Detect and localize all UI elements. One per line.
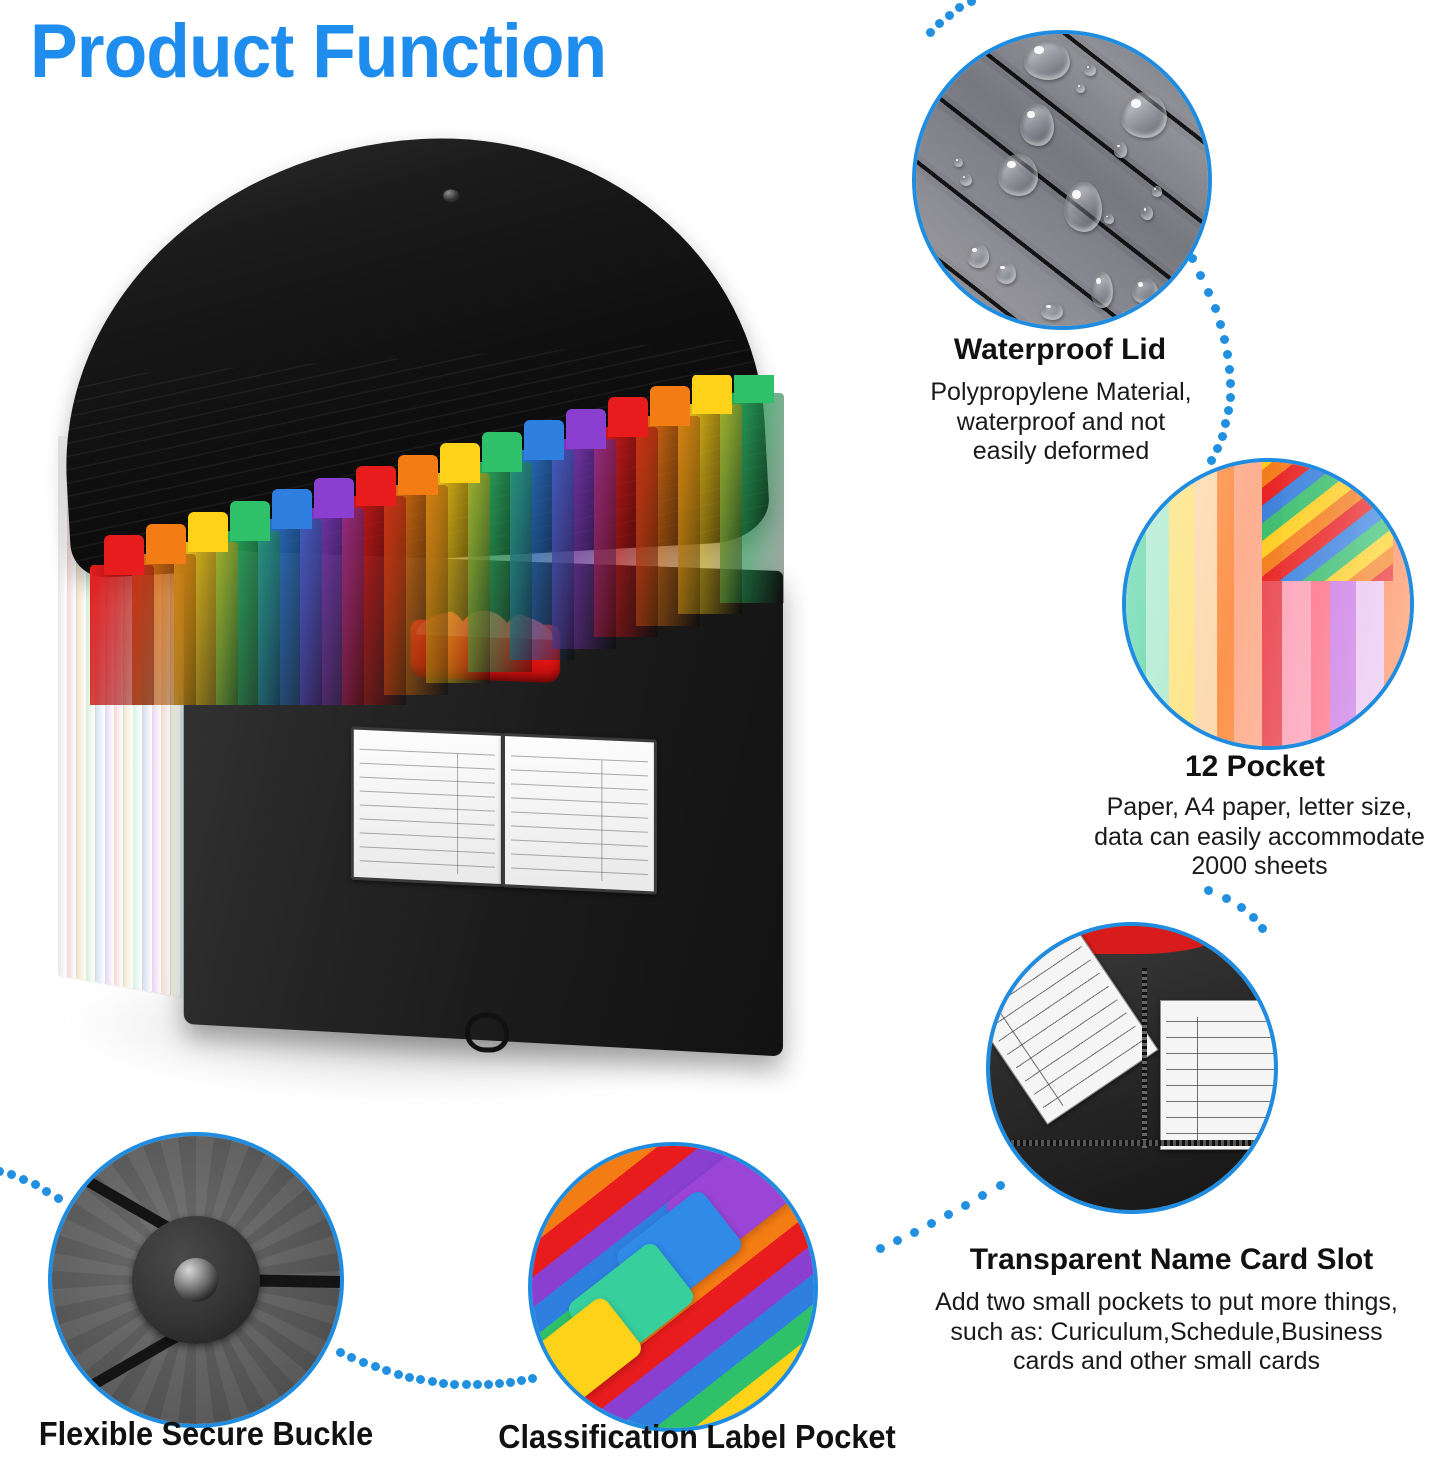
water-droplet <box>1132 278 1158 304</box>
connector-dot <box>927 1219 936 1228</box>
callout-body-line: 2000 sheets <box>1076 852 1443 882</box>
connector-dot <box>495 1379 504 1388</box>
connector-dot <box>1211 304 1220 313</box>
rainbow-tab-notch <box>734 375 774 403</box>
connector-dot <box>1207 456 1216 465</box>
connector-dot <box>1196 271 1205 280</box>
callout-image-flexible-secure-buckle <box>48 1132 344 1428</box>
callout-heading-flexible-secure-buckle: Flexible Secure Buckle <box>14 1415 397 1453</box>
water-droplet <box>1020 104 1054 146</box>
connector-dot <box>910 1228 919 1237</box>
water-droplet <box>954 158 963 167</box>
callout-body-line: Polypropylene Material, <box>893 378 1229 408</box>
connector-dot <box>1216 320 1225 329</box>
connector-dot <box>517 1376 526 1385</box>
connector-dot <box>394 1370 403 1379</box>
connector-dot <box>428 1377 437 1386</box>
rainbow-tab-notch <box>440 443 480 483</box>
connector-dot <box>1222 894 1231 903</box>
lid-rivet <box>443 189 459 201</box>
rainbow-tab-notch <box>314 478 354 518</box>
connector-dot <box>359 1358 368 1367</box>
callout-image-12-pocket <box>1122 458 1414 750</box>
connector-dot <box>1237 903 1246 912</box>
water-droplet <box>1084 64 1096 76</box>
connector-dot <box>967 0 976 6</box>
connector-dot <box>416 1375 425 1384</box>
elastic-buckle-loop <box>464 1012 510 1052</box>
connector-dot <box>1218 432 1227 441</box>
connector-dot <box>1223 350 1232 359</box>
water-droplet <box>1076 84 1085 93</box>
connector-dot <box>1204 886 1213 895</box>
connector-dot <box>439 1379 448 1388</box>
connector-dot <box>1204 288 1213 297</box>
rainbow-tab-notch <box>566 409 606 449</box>
card-ruled-lines <box>1166 1006 1278 1144</box>
callout-body-line: Add two small pockets to put more things… <box>890 1288 1443 1318</box>
connector-dot <box>978 1191 987 1200</box>
water-droplet <box>1152 186 1162 197</box>
water-droplet <box>1104 214 1114 224</box>
connector-dot <box>1225 365 1234 374</box>
callout-image-name-card-slot <box>986 922 1278 1214</box>
card-column-rule <box>1197 1017 1198 1143</box>
connector-dot <box>1226 393 1235 402</box>
callout-body-12-pocket: Paper, A4 paper, letter size, data can e… <box>1076 793 1443 882</box>
connector-dot <box>336 1348 345 1357</box>
buckle-button <box>132 1216 260 1344</box>
callout-body-line: such as: Curiculum,Schedule,Business <box>890 1318 1443 1348</box>
rainbow-tab-notch <box>104 535 144 575</box>
water-droplet <box>1141 206 1153 220</box>
callout-heading-12-pocket: 12 Pocket <box>1090 750 1420 784</box>
rainbow-tab-notch <box>692 375 732 414</box>
water-droplet <box>1041 302 1063 320</box>
connector-dot <box>1221 419 1230 428</box>
callout-heading-waterproof-lid: Waterproof Lid <box>900 333 1220 367</box>
name-card-tilted <box>986 925 1158 1124</box>
connector-dot <box>1226 379 1235 388</box>
connector-dot <box>31 1180 40 1189</box>
connector-dot <box>1213 444 1222 453</box>
pocket-seam-vertical <box>1142 968 1147 1148</box>
connector-dot <box>371 1362 380 1371</box>
connector-dot <box>1258 924 1267 933</box>
connector-dot <box>382 1366 391 1375</box>
water-droplet <box>1091 272 1113 308</box>
connector-dot <box>506 1378 515 1387</box>
water-droplet <box>1121 92 1167 138</box>
connector-dot <box>405 1373 414 1382</box>
connector-dot <box>54 1194 63 1203</box>
water-droplet <box>998 154 1038 196</box>
rainbow-tab-notch <box>398 455 438 495</box>
name-card-slot-left <box>351 726 504 887</box>
connector-dot <box>935 19 944 28</box>
rainbow-tab-notch <box>230 501 270 541</box>
connector-dot <box>961 1201 970 1210</box>
connector-dot <box>7 1170 16 1179</box>
rainbow-tab-notch <box>608 397 648 437</box>
callout-image-waterproof-lid <box>912 30 1212 330</box>
rainbow-tab-notch <box>482 432 522 472</box>
name-card-slot-right <box>502 733 657 895</box>
connector-dot <box>42 1187 51 1196</box>
callout-image-classification-label-pocket <box>528 1142 818 1432</box>
callout-body-waterproof-lid: Polypropylene Material, waterproof and n… <box>893 378 1229 467</box>
card-column-rule <box>457 754 458 874</box>
rainbow-tab-notch <box>650 386 690 426</box>
product-hero-image <box>30 120 870 1080</box>
pocket-sheen <box>1126 462 1410 746</box>
callout-heading-classification-label-pocket: Classification Label Pocket <box>469 1418 925 1456</box>
callout-body-line: Paper, A4 paper, letter size, <box>1076 793 1443 823</box>
rainbow-divider-tab <box>90 565 154 705</box>
pocket-texture <box>1126 462 1410 746</box>
connector-dot <box>347 1353 356 1362</box>
pocket-seam-horizontal <box>1008 1140 1270 1146</box>
connector-dot <box>1188 254 1197 263</box>
connector-dot <box>0 1167 4 1176</box>
water-droplet <box>1120 310 1132 322</box>
connector-dot <box>1249 913 1258 922</box>
callout-body-line: cards and other small cards <box>890 1347 1443 1377</box>
connector-dot <box>473 1380 482 1389</box>
water-droplet <box>1064 182 1102 232</box>
connector-dot <box>484 1380 493 1389</box>
name-card-texture <box>990 926 1274 1210</box>
callout-body-line: waterproof and not <box>893 408 1229 438</box>
callout-heading-name-card-slot: Transparent Name Card Slot <box>900 1243 1443 1277</box>
connector-dot <box>1224 406 1233 415</box>
connector-dot <box>945 11 954 20</box>
card-ruled-lines <box>986 934 1150 1117</box>
connector-dot <box>955 3 964 12</box>
connector-dot <box>19 1175 28 1184</box>
connector-dot <box>944 1210 953 1219</box>
connector-dot <box>926 28 935 37</box>
water-droplet <box>1024 40 1070 80</box>
rainbow-tab-notch <box>146 524 186 564</box>
rainbow-tab-notch <box>356 466 396 506</box>
connector-dot <box>1220 335 1229 344</box>
callout-body-line: data can easily accommodate <box>1076 823 1443 853</box>
connector-dot <box>876 1244 885 1253</box>
water-droplet <box>1114 142 1127 158</box>
connector-dot <box>996 1181 1005 1190</box>
connector-dot <box>893 1236 902 1245</box>
page-title: Product Function <box>30 14 606 90</box>
connector-dot <box>528 1374 537 1383</box>
water-droplet <box>967 244 989 268</box>
rainbow-tab-notch <box>272 489 312 529</box>
card-column-rule <box>601 760 602 881</box>
rainbow-tab-notch <box>188 512 228 552</box>
water-droplet <box>960 174 972 186</box>
connector-dot <box>462 1380 471 1389</box>
card-ruled-lines <box>360 736 495 878</box>
water-droplet <box>996 262 1016 284</box>
card-ruled-lines <box>511 742 648 885</box>
callout-body-name-card-slot: Add two small pockets to put more things… <box>890 1288 1443 1377</box>
rainbow-tab-notch <box>524 420 564 460</box>
buckle-texture <box>52 1136 340 1424</box>
connector-dot <box>450 1380 459 1389</box>
name-card-upright <box>1160 1000 1278 1150</box>
